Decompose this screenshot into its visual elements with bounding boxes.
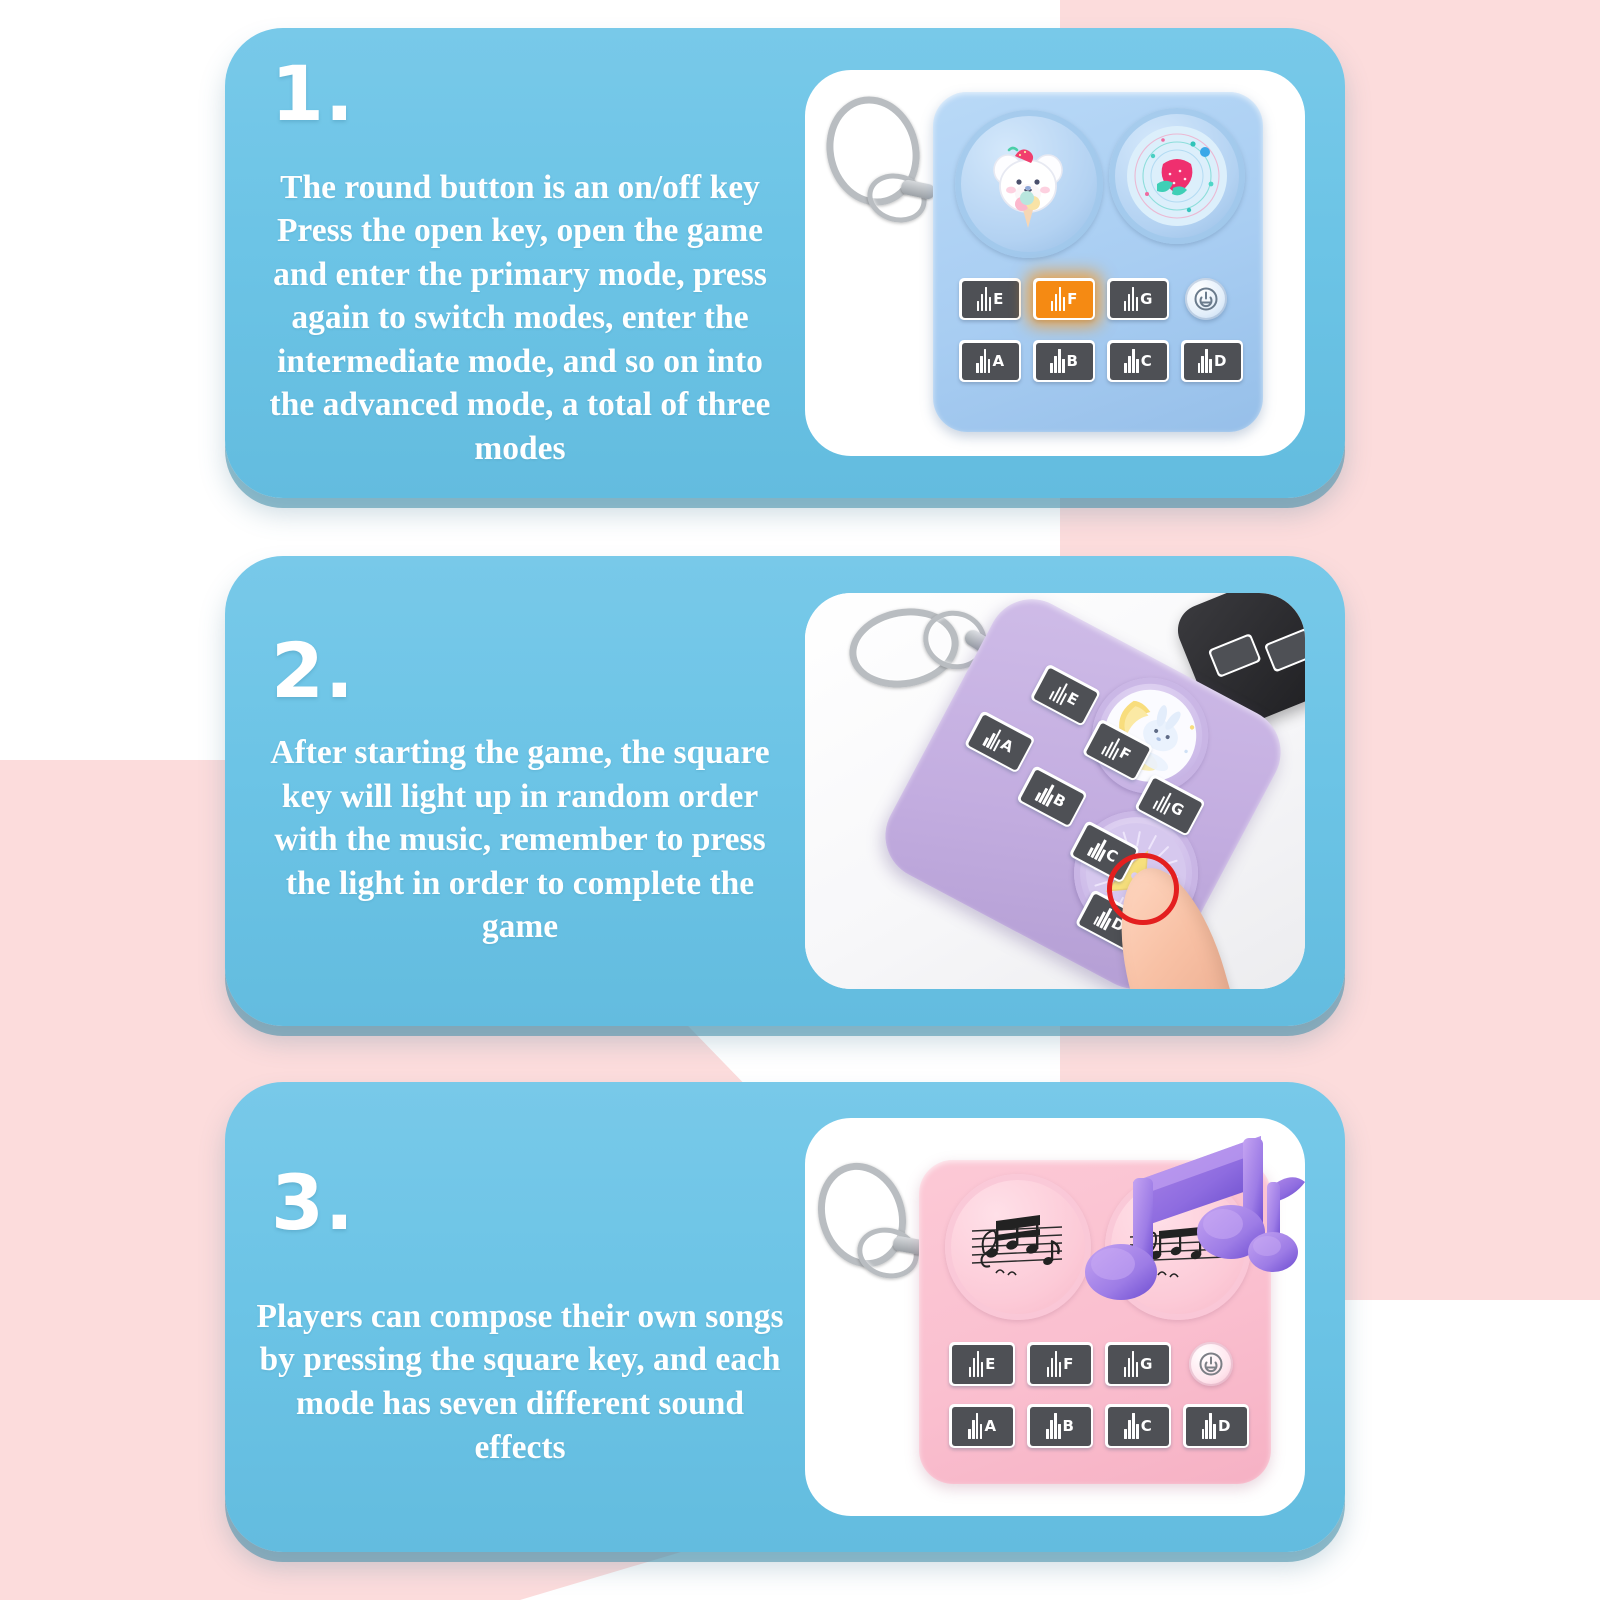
- step-1-number: 1.: [271, 56, 797, 132]
- music-key-C-label: C: [1141, 1419, 1152, 1434]
- music-key-G-face: G: [1108, 1345, 1169, 1384]
- step-3-text-column: 3. Players can compose their own songs b…: [225, 1082, 805, 1552]
- power-button[interactable]: [1185, 278, 1227, 320]
- music-key-A-face: A: [962, 343, 1019, 380]
- power-icon: [1193, 286, 1219, 312]
- music-key-E[interactable]: E: [959, 278, 1021, 320]
- music-key-B-label: B: [1067, 354, 1078, 369]
- pink-device-photo: E F G: [805, 1118, 1305, 1516]
- music-key-A[interactable]: A: [959, 340, 1021, 382]
- music-key-E[interactable]: E: [1029, 663, 1101, 726]
- power-button[interactable]: [1189, 1342, 1233, 1386]
- bar-pattern-icon: [1050, 349, 1065, 373]
- bar-pattern-icon: [976, 349, 991, 373]
- step-3-number: 3.: [271, 1165, 797, 1241]
- bar-pattern-icon: [1124, 287, 1139, 311]
- music-key-D-face: D: [1186, 1407, 1247, 1446]
- steps-container: 1. The round button is an on/off key Pre…: [0, 0, 1600, 1600]
- power-icon: [1198, 1351, 1224, 1377]
- music-key-B-face: B: [1030, 1407, 1091, 1446]
- music-key-A-label: A: [992, 354, 1004, 369]
- music-key-D[interactable]: D: [1181, 340, 1243, 382]
- music-key-F-label: F: [1067, 292, 1077, 307]
- step-card-1: 1. The round button is an on/off key Pre…: [225, 28, 1345, 498]
- music-key-G-label: G: [1140, 1357, 1152, 1372]
- music-key-F-face: F: [1036, 281, 1093, 318]
- round-button-left[interactable]: [945, 1174, 1091, 1320]
- bar-pattern-icon: [1124, 349, 1139, 373]
- music-key-A-face: A: [967, 713, 1032, 770]
- music-key-C[interactable]: C: [1107, 340, 1169, 382]
- press-highlight-circle: [1107, 853, 1179, 925]
- music-key-E-face: E: [962, 281, 1019, 318]
- music-key-C[interactable]: C: [1105, 1404, 1171, 1448]
- step-3-description: Players can compose their own songs by p…: [243, 1295, 797, 1469]
- step-card-3: 3. Players can compose their own songs b…: [225, 1082, 1345, 1552]
- music-key-E[interactable]: E: [949, 1342, 1015, 1386]
- music-key-F[interactable]: F: [1033, 278, 1095, 320]
- step-card-2: 2. After starting the game, the square k…: [225, 556, 1345, 1026]
- step-1-description: The round button is an on/off key Press …: [243, 166, 797, 471]
- music-key-C-face: C: [1108, 1407, 1169, 1446]
- music-key-G-face: G: [1110, 281, 1167, 318]
- strawberry-glitter-sticker: [1123, 122, 1231, 230]
- music-key-B[interactable]: B: [1016, 765, 1088, 828]
- music-key-B-face: B: [1020, 768, 1085, 825]
- bar-pattern-icon: [968, 1413, 983, 1439]
- step-2-description: After starting the game, the square key …: [243, 731, 797, 949]
- music-key-C-label: C: [1141, 354, 1152, 369]
- music-key-E-face: E: [1033, 667, 1098, 724]
- music-key-D-face: D: [1184, 343, 1241, 380]
- bar-pattern-icon: [969, 1351, 984, 1377]
- bar-pattern-icon: [1198, 349, 1213, 373]
- music-key-B-label: B: [1063, 1419, 1074, 1434]
- blue-device-photo: E F G: [805, 70, 1305, 456]
- music-key-E-label: E: [985, 1357, 995, 1372]
- bar-pattern-icon: [1046, 1413, 1061, 1439]
- music-key-E-label: E: [993, 292, 1003, 307]
- music-key-G[interactable]: G: [1107, 278, 1169, 320]
- bar-pattern-icon: [1124, 1413, 1139, 1439]
- music-key-B[interactable]: B: [1027, 1404, 1093, 1448]
- music-key-B-face: B: [1036, 343, 1093, 380]
- music-key-A[interactable]: A: [964, 710, 1036, 773]
- step-1-text-column: 1. The round button is an on/off key Pre…: [225, 28, 805, 498]
- music-key-A-face: A: [952, 1407, 1013, 1446]
- bar-pattern-icon: [977, 287, 992, 311]
- step-2-text-column: 2. After starting the game, the square k…: [225, 556, 805, 1026]
- music-key-D-label: D: [1214, 354, 1226, 369]
- music-key-F-face: F: [1030, 1345, 1091, 1384]
- bar-pattern-icon: [1047, 1351, 1062, 1377]
- music-key-E-face: E: [952, 1345, 1013, 1384]
- bar-pattern-icon: [1202, 1413, 1217, 1439]
- music-note-graphic: [1073, 1118, 1305, 1342]
- bar-pattern-icon: [1124, 1351, 1139, 1377]
- blue-device-body: E F G: [933, 92, 1263, 432]
- step-3-photo-panel: E F G: [805, 1118, 1305, 1516]
- step-2-photo-panel: E F G: [805, 593, 1305, 989]
- music-key-F-label: F: [1063, 1357, 1073, 1372]
- step-1-photo-panel: E F G: [805, 70, 1305, 456]
- round-button-left[interactable]: [955, 110, 1103, 258]
- music-key-D-label: D: [1218, 1419, 1230, 1434]
- bar-pattern-icon: [1051, 287, 1066, 311]
- music-key-C-face: C: [1110, 343, 1167, 380]
- music-key-A[interactable]: A: [949, 1404, 1015, 1448]
- music-key-A-label: A: [984, 1419, 996, 1434]
- step-2-number: 2.: [271, 633, 797, 709]
- purple-device-photo: E F G: [805, 593, 1305, 989]
- music-key-D[interactable]: D: [1183, 1404, 1249, 1448]
- music-key-G-label: G: [1140, 292, 1152, 307]
- music-key-G[interactable]: G: [1105, 1342, 1171, 1386]
- music-key-F[interactable]: F: [1027, 1342, 1093, 1386]
- music-score-sticker: [962, 1191, 1074, 1303]
- music-key-B[interactable]: B: [1033, 340, 1095, 382]
- bear-with-ice-cream-sticker: [975, 130, 1083, 238]
- purple-3d-music-note-icon: [1073, 1118, 1305, 1342]
- round-button-right[interactable]: [1109, 108, 1245, 244]
